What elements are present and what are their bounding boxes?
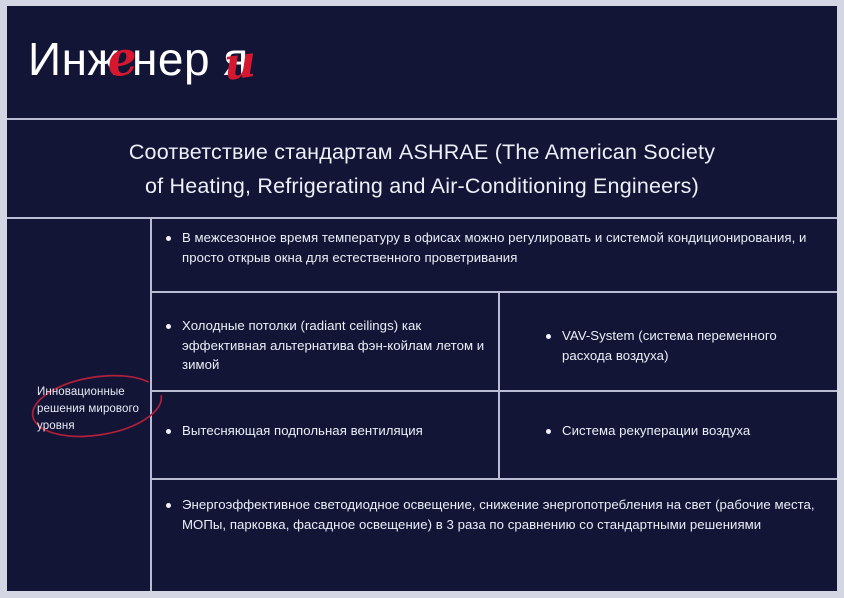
bullet-dot-icon	[546, 334, 551, 339]
divider-row-3-4	[150, 478, 837, 480]
bullet-item: VAV-System (система переменного расхода …	[546, 326, 823, 365]
logo-band: Инж нер я е и	[7, 6, 837, 118]
content-cell-4-1: Энергоэффективное светодиодное освещение…	[166, 495, 823, 565]
bullet-text: Система рекуперации воздуха	[562, 421, 750, 441]
bullet-item: Система рекуперации воздуха	[546, 421, 823, 441]
bullet-item: Вытесняющая подпольная вентиляция	[166, 421, 488, 441]
content-cell-3-1: Вытесняющая подпольная вентиляция	[166, 421, 488, 473]
bullet-item: Холодные потолки (radiant ceilings) как …	[166, 316, 488, 375]
bullet-text: Холодные потолки (radiant ceilings) как …	[182, 316, 488, 375]
content-cell-1-1: В межсезонное время температуру в офисах…	[166, 228, 823, 290]
content-cell-2-1: Холодные потолки (radiant ceilings) как …	[166, 316, 488, 388]
brand-logo: Инж нер я е и	[28, 28, 328, 90]
logo-script-i-glyph: и	[223, 40, 256, 89]
bullet-text: В межсезонное время температуру в офисах…	[182, 228, 823, 267]
divider-row-1-2	[150, 291, 837, 293]
bullet-dot-icon	[546, 429, 551, 434]
side-label-text: Инновационные решения мирового уровня	[37, 384, 155, 435]
title-line-2: of Heating, Refrigerating and Air-Condit…	[145, 169, 699, 203]
bullet-dot-icon	[166, 429, 171, 434]
bullet-text: Вытесняющая подпольная вентиляция	[182, 421, 423, 441]
title-line-1: Соответствие стандартам ASHRAE (The Amer…	[129, 135, 715, 169]
logo-script-e-glyph: е	[104, 34, 139, 84]
slide-title: Соответствие стандартам ASHRAE (The Amer…	[7, 120, 837, 218]
bullet-dot-icon	[166, 236, 171, 241]
bullet-item: Энергоэффективное светодиодное освещение…	[166, 495, 823, 534]
bullet-dot-icon	[166, 324, 171, 329]
bullet-item: В межсезонное время температуру в офисах…	[166, 228, 823, 267]
bullet-text: Энергоэффективное светодиодное освещение…	[182, 495, 823, 534]
bullet-text: VAV-System (система переменного расхода …	[562, 326, 823, 365]
content-cell-3-2: Система рекуперации воздуха	[546, 421, 823, 473]
content-cell-2-2: VAV-System (система переменного расхода …	[546, 326, 823, 386]
bullet-dot-icon	[166, 503, 171, 508]
divider-row-2-3	[150, 390, 837, 392]
divider-columns-vertical	[498, 292, 500, 480]
divider-under-title	[7, 217, 837, 219]
slide-root: Инж нер я е и Соответствие стандартам AS…	[0, 0, 844, 598]
